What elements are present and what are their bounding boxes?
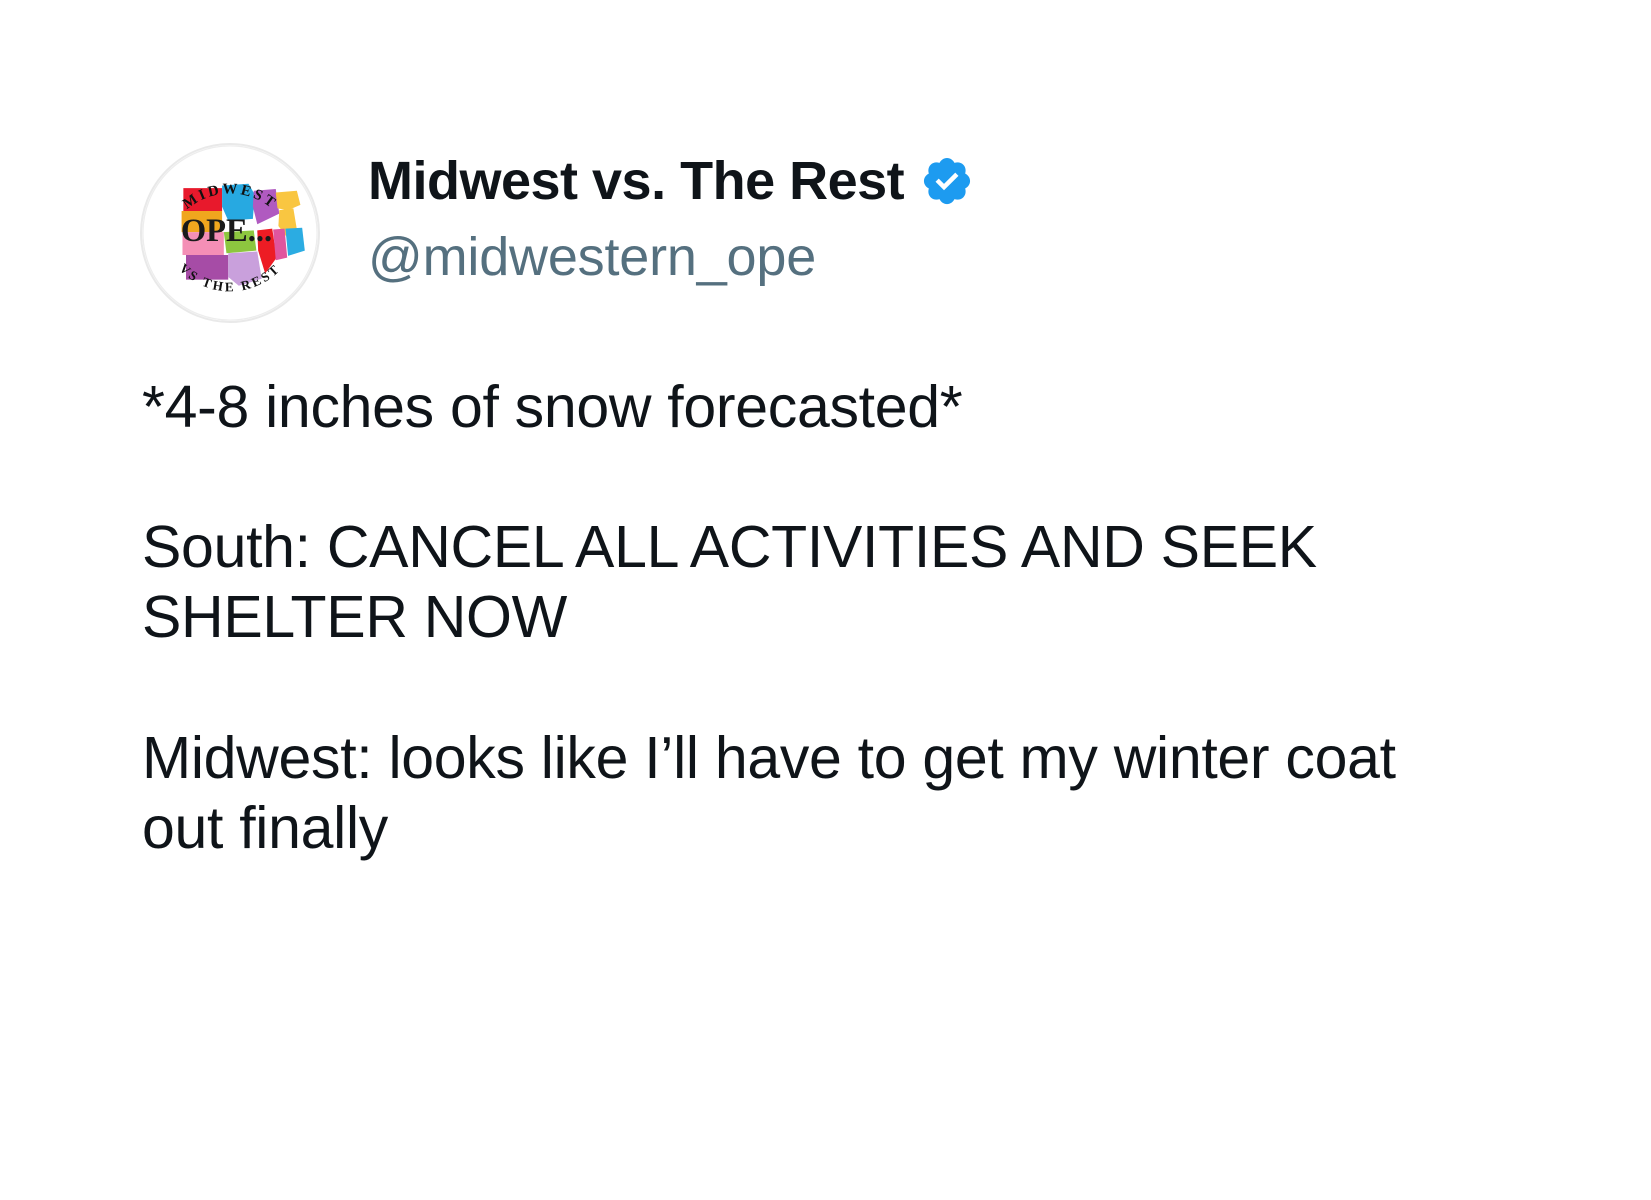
author-handle[interactable]: @midwestern_ope xyxy=(368,225,974,289)
tweet-paragraph-midwest: Midwest: looks like I’ll have to get my … xyxy=(142,723,1432,863)
tweet-paragraph-south: South: CANCEL ALL ACTIVITIES AND SEEK SH… xyxy=(142,512,1432,652)
tweet-header: OPE... MIDWEST VS THE REST Midwest vs. T… xyxy=(140,143,974,323)
avatar[interactable]: OPE... MIDWEST VS THE REST xyxy=(140,143,320,323)
paragraph-spacer xyxy=(142,442,1432,512)
avatar-center-text: OPE... xyxy=(181,213,272,249)
display-name[interactable]: Midwest vs. The Rest xyxy=(368,151,904,211)
avatar-logo-icon: OPE... MIDWEST VS THE REST xyxy=(142,145,318,321)
tweet-paragraph-forecast: *4-8 inches of snow forecasted* xyxy=(142,372,1432,442)
tweet-card: OPE... MIDWEST VS THE REST Midwest vs. T… xyxy=(0,0,1651,1200)
tweet-text-body: *4-8 inches of snow forecasted* South: C… xyxy=(142,372,1432,863)
author-name-row: Midwest vs. The Rest xyxy=(368,149,974,213)
paragraph-spacer xyxy=(142,653,1432,723)
author-identity: Midwest vs. The Rest @midwestern_ope xyxy=(368,143,974,289)
verified-badge-icon xyxy=(920,154,974,208)
